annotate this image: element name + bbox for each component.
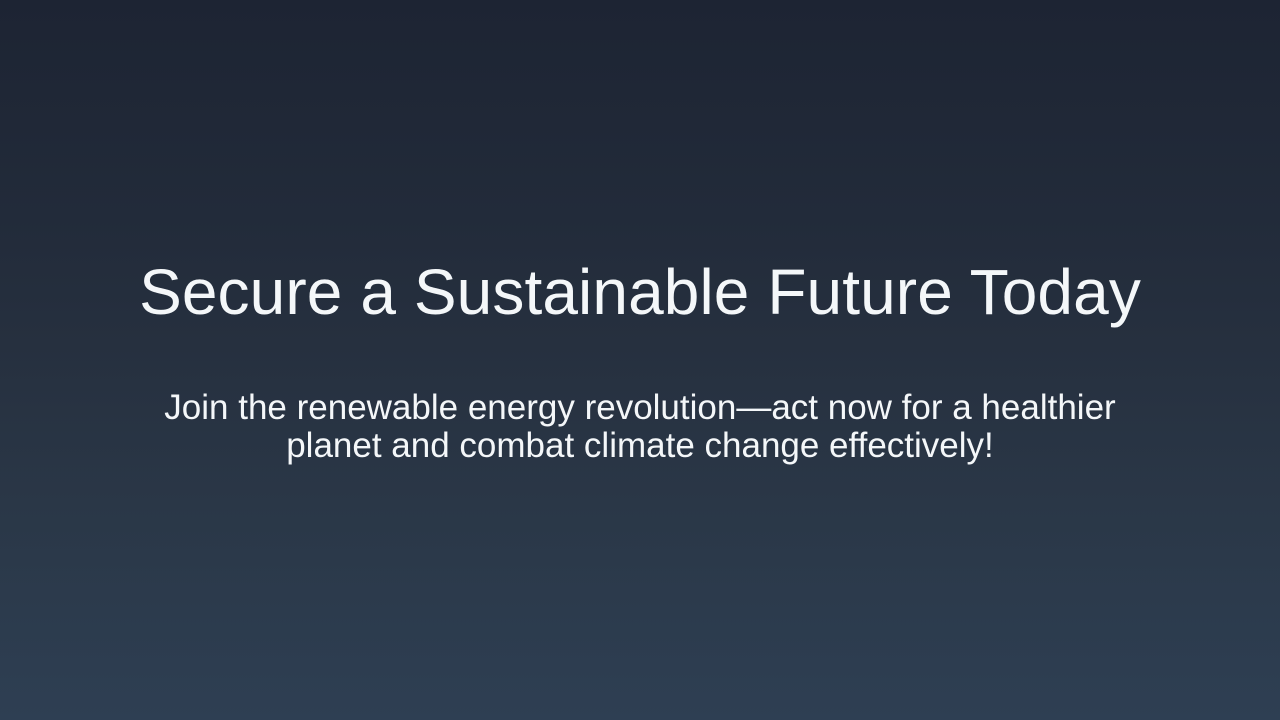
presentation-slide: Secure a Sustainable Future Today Join t… (0, 0, 1280, 720)
slide-subtitle: Join the renewable energy revolution—act… (145, 389, 1135, 465)
slide-title: Secure a Sustainable Future Today (139, 258, 1141, 327)
slide-content-block: Secure a Sustainable Future Today Join t… (0, 258, 1280, 465)
